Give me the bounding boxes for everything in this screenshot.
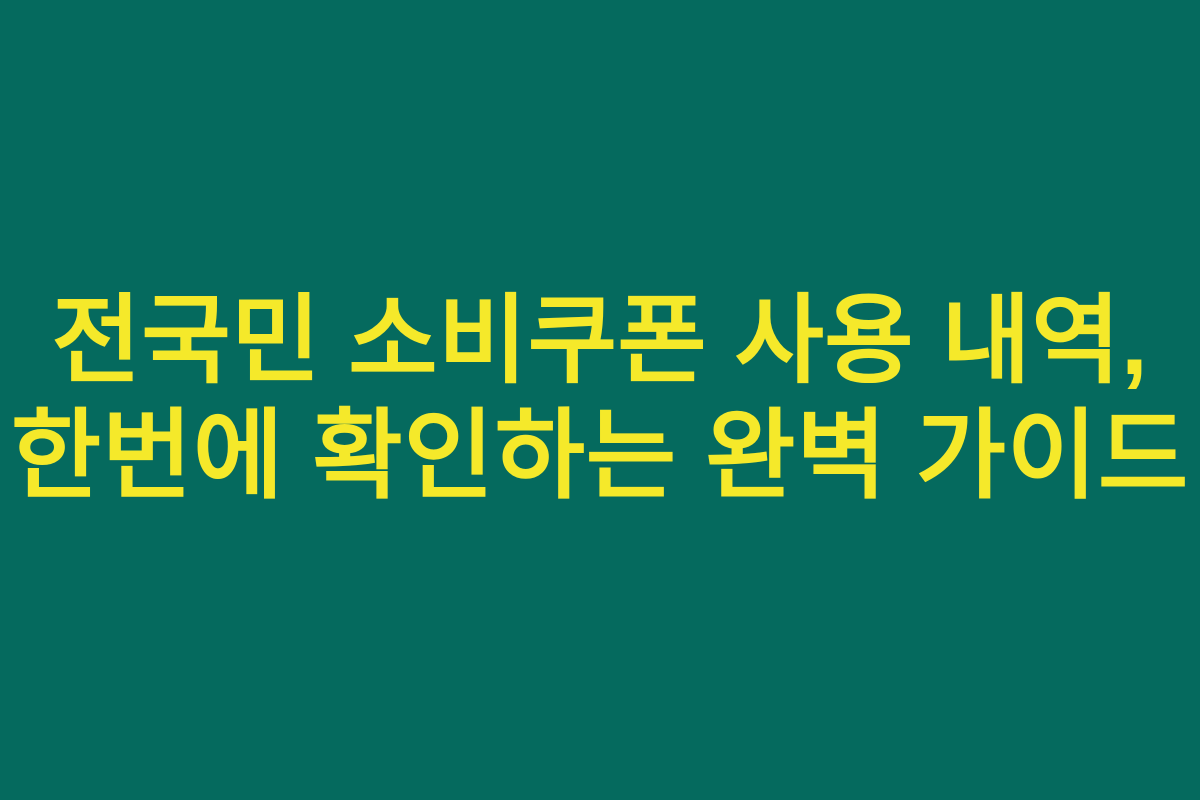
thumbnail-canvas: 전국민 소비쿠폰 사용 내역, 한번에 확인하는 완벽 가이드	[0, 0, 1200, 800]
headline-block: 전국민 소비쿠폰 사용 내역, 한번에 확인하는 완벽 가이드	[10, 283, 1190, 513]
headline-line-2: 한번에 확인하는 완벽 가이드	[10, 398, 1190, 513]
headline-line-1: 전국민 소비쿠폰 사용 내역,	[10, 283, 1190, 398]
